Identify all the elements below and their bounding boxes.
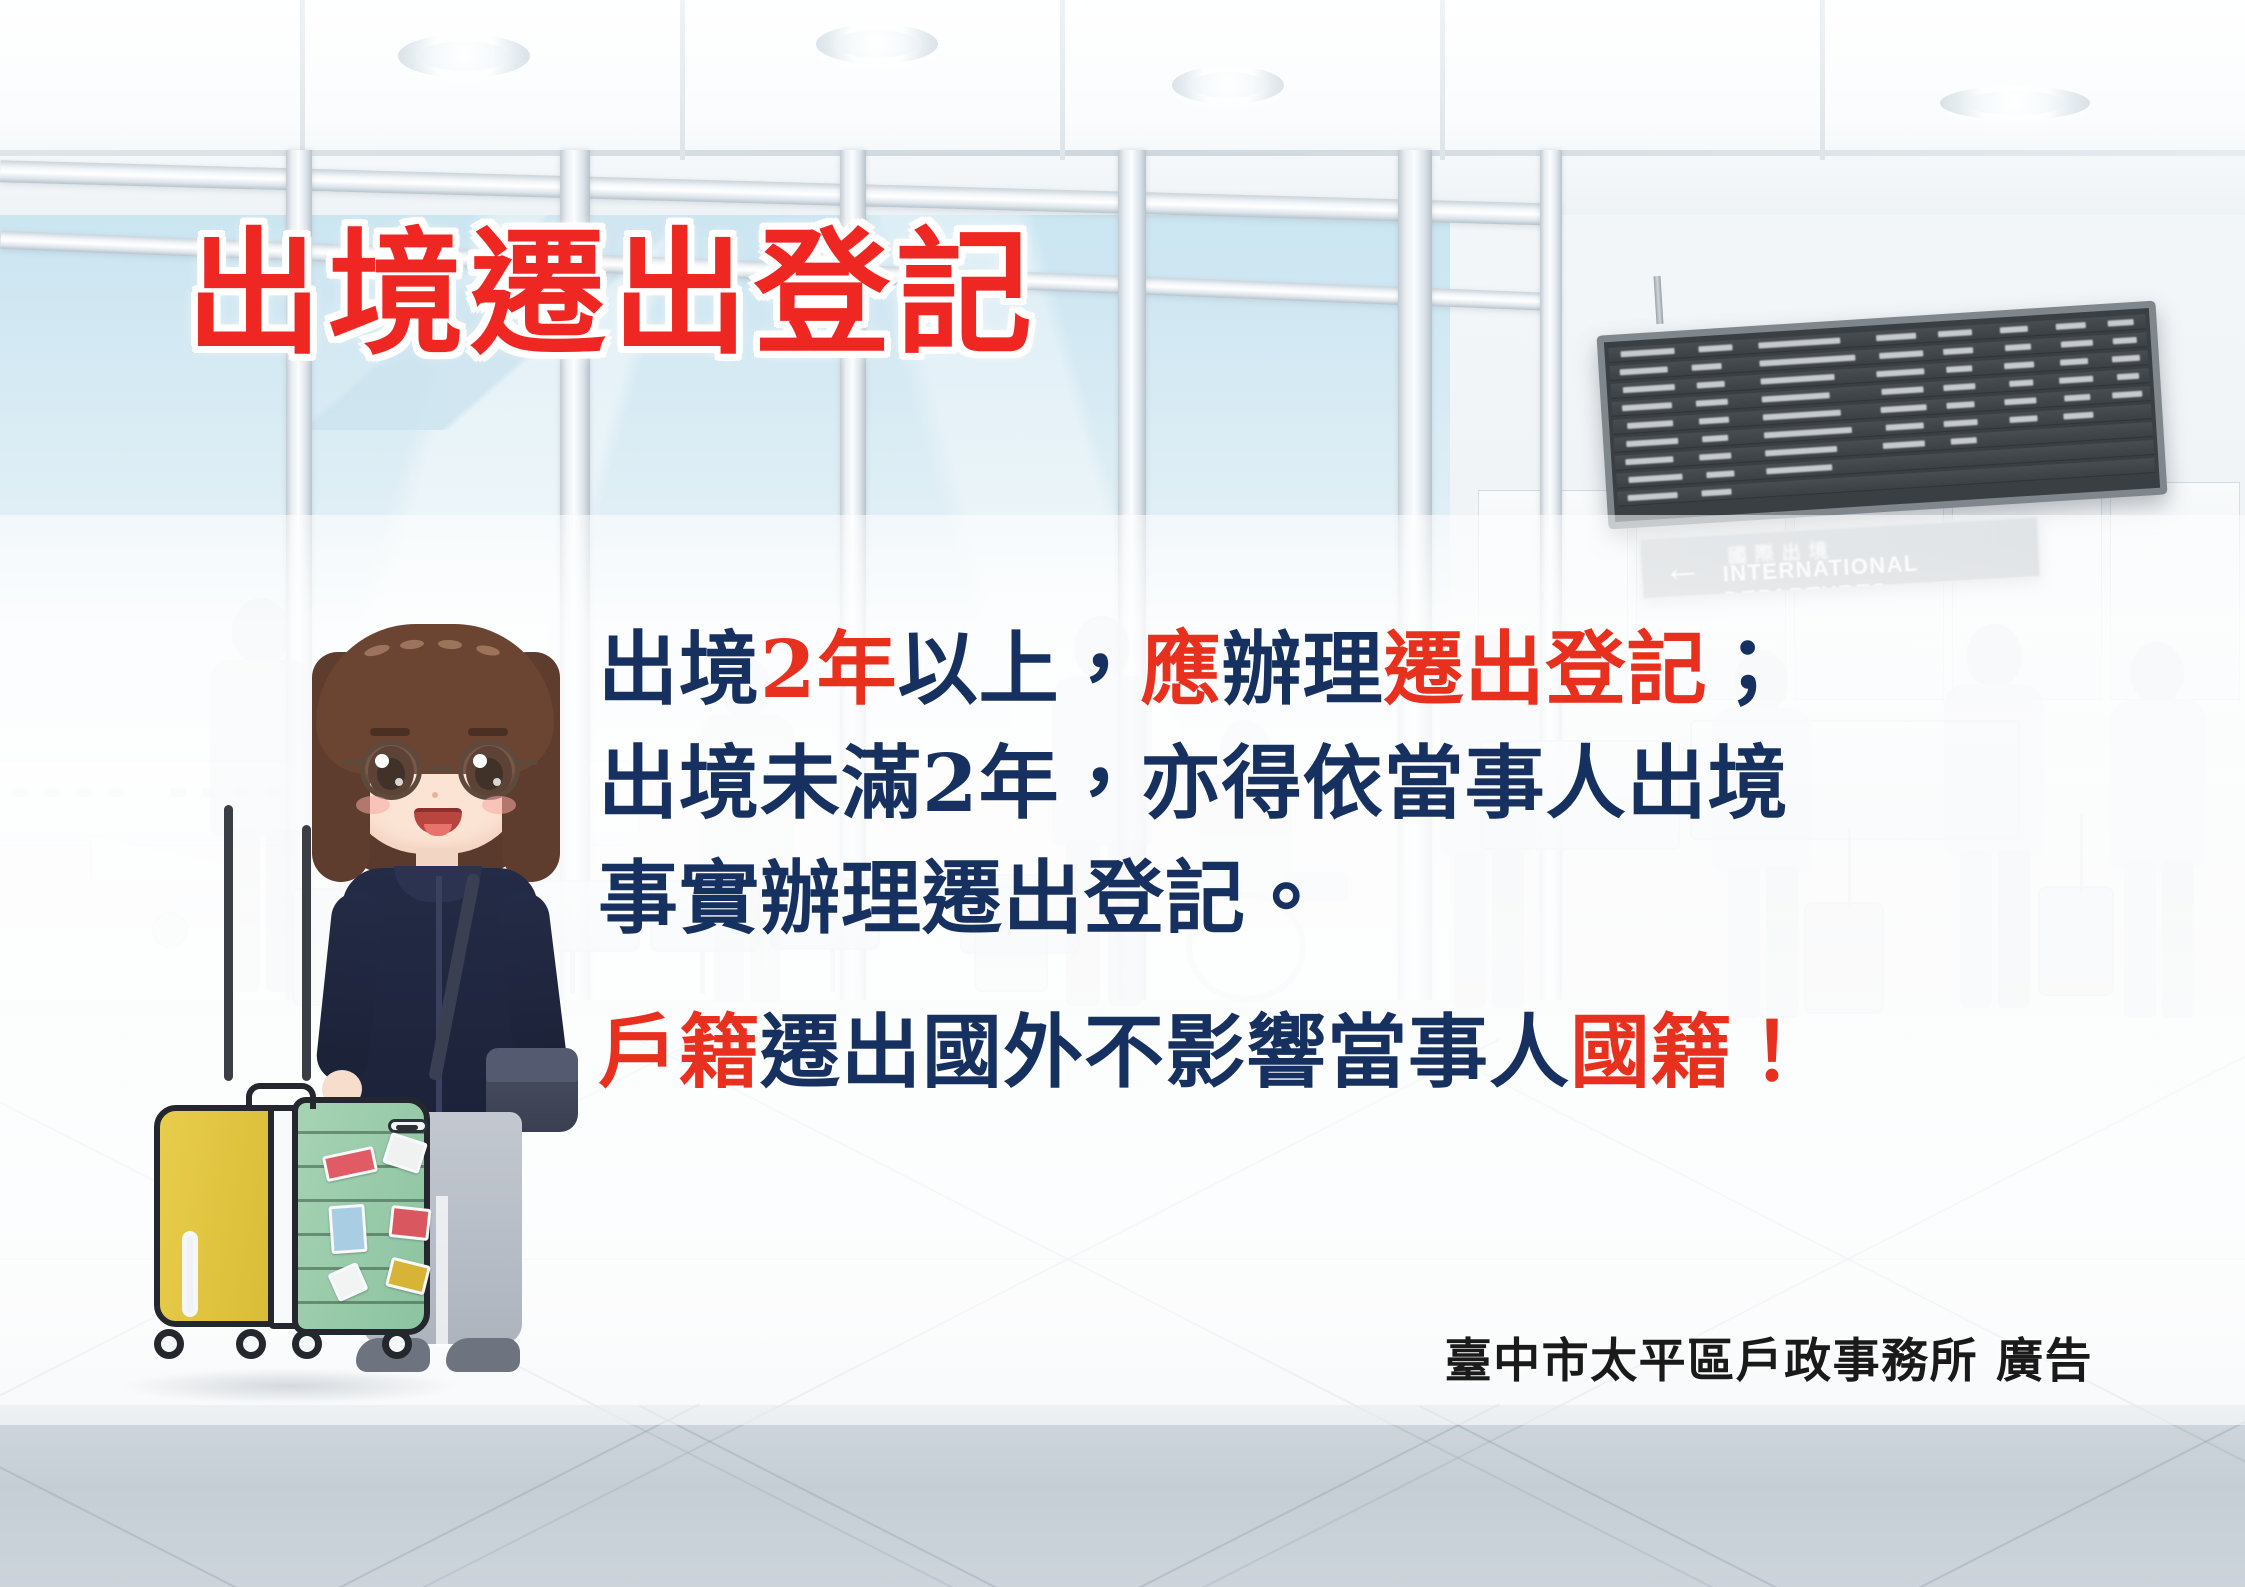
seg-red-moveout-registration: 遷出登記 — [1384, 622, 1708, 716]
seg-navy: 遷出國外不影響當事人 — [760, 1005, 1570, 1099]
floor-foreground-band — [0, 1405, 2245, 1587]
leg-gap — [436, 1196, 448, 1346]
footer-agency-credit: 臺中市太平區戶政事務所 廣告 — [1445, 1322, 2093, 1391]
suitcase-top-handle — [246, 1083, 316, 1109]
suitcase-wheel — [236, 1329, 266, 1359]
travel-sticker — [328, 1204, 367, 1254]
page-title: 出境遷出登記 — [186, 222, 1038, 369]
shoulder-bag-flap — [486, 1048, 578, 1082]
glasses-lens-right — [458, 740, 520, 800]
luggage-telescoping-handle — [302, 825, 311, 1081]
seg-red-shall: 應 — [1141, 622, 1222, 716]
seg-navy: 出境 — [598, 622, 760, 716]
flight-information-board — [1596, 301, 2167, 530]
ceiling-downlight — [398, 34, 530, 78]
poster-root: ← 國際出境 INTERNATIONAL DEPARTURES — [0, 0, 2245, 1587]
glasses-bridge — [428, 766, 454, 771]
seg-navy: 以上， — [898, 622, 1141, 716]
glasses-temple-left — [342, 760, 362, 765]
shoe-right — [446, 1338, 520, 1372]
seg-navy: 辦理 — [1222, 622, 1384, 716]
suitcase-wheel — [292, 1329, 322, 1359]
luggage-tag — [388, 1119, 428, 1133]
glasses-lens-left — [360, 740, 422, 800]
ceiling-downlight — [816, 24, 938, 64]
eyebrow-left — [370, 728, 410, 736]
suitcase-side-grip — [182, 1231, 198, 1317]
seg-red-2years: 2年 — [760, 622, 898, 716]
seg-red-nationality: 國籍！ — [1570, 1005, 1813, 1099]
suitcase-yellow — [154, 1105, 284, 1327]
travel-sticker — [388, 1205, 431, 1241]
ceiling-downlight — [1172, 66, 1284, 104]
seg-navy: 事實辦理遷出登記。 — [598, 851, 1327, 945]
seg-navy: 出境未滿2年，亦得依當事人出境 — [598, 736, 1789, 830]
luggage-group — [150, 1075, 430, 1375]
suitcase-wheel — [154, 1329, 184, 1359]
body-line-3: 事實辦理遷出登記。 — [598, 843, 2118, 953]
eyebrow-right — [468, 728, 508, 736]
nose — [432, 792, 438, 798]
body-copy: 出境2年以上，應辦理遷出登記； 出境未滿2年，亦得依當事人出境 事實辦理遷出登記… — [598, 614, 2118, 1112]
seg-red-household: 戶籍 — [598, 1005, 760, 1099]
cheek-blush-right — [482, 796, 516, 814]
cheek-blush-left — [356, 796, 390, 814]
glasses-temple-right — [518, 760, 538, 765]
body-line-1: 出境2年以上，應辦理遷出登記； — [598, 614, 2118, 724]
body-line-2: 出境未滿2年，亦得依當事人出境 — [598, 728, 2118, 838]
ceiling-downlight — [1940, 86, 2090, 120]
suitcase-wheel — [382, 1329, 412, 1359]
seg-navy: ； — [1708, 622, 1789, 716]
body-line-4: 戶籍遷出國外不影響當事人國籍！ — [598, 997, 2118, 1107]
luggage-telescoping-handle — [224, 805, 233, 1081]
